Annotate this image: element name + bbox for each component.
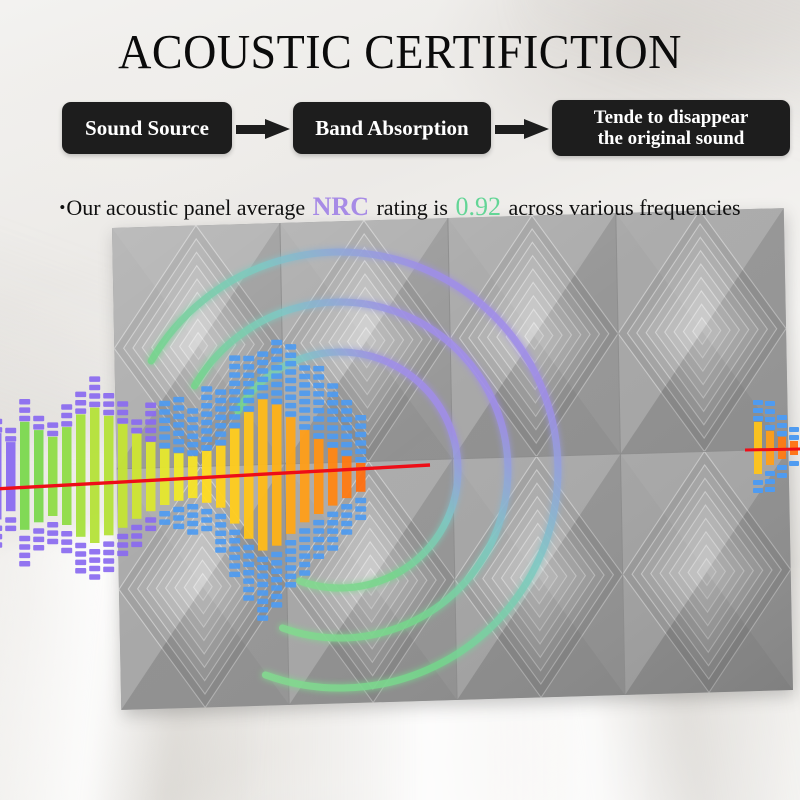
nrc-claim-line: •Our acoustic panel average NRC rating i… [0, 192, 800, 222]
claim-suffix: across various frequencies [503, 195, 741, 220]
claim-middle: rating is [371, 195, 454, 220]
flow-box-result-line1: Tende to disappear [594, 107, 749, 128]
arrow-right-icon-2 [495, 120, 549, 138]
flow-box-band-absorption[interactable]: Band Absorption [293, 102, 491, 154]
claim-prefix: Our acoustic panel average [66, 195, 310, 220]
screenshot-stage: ACOUSTIC CERTIFICTION Sound Source Band … [0, 0, 800, 800]
acoustic-panel-photo [112, 208, 793, 710]
flow-box-result[interactable]: Tende to disappear the original sound [552, 100, 790, 156]
flow-box-sound-source[interactable]: Sound Source [62, 102, 232, 154]
arrow-head [524, 119, 549, 139]
bullet-icon: • [59, 198, 65, 217]
arrow-right-icon-1 [236, 120, 290, 138]
process-flow: Sound Source Band Absorption Tende to di… [0, 100, 800, 162]
nrc-value: 0.92 [453, 192, 503, 221]
arrow-head [265, 119, 290, 139]
arrow-shaft [495, 125, 527, 134]
page-title: ACOUSTIC CERTIFICTION [24, 27, 776, 76]
nrc-metric-label: NRC [311, 192, 371, 221]
arrow-shaft [236, 125, 268, 134]
flow-box-result-line2: the original sound [598, 128, 745, 149]
